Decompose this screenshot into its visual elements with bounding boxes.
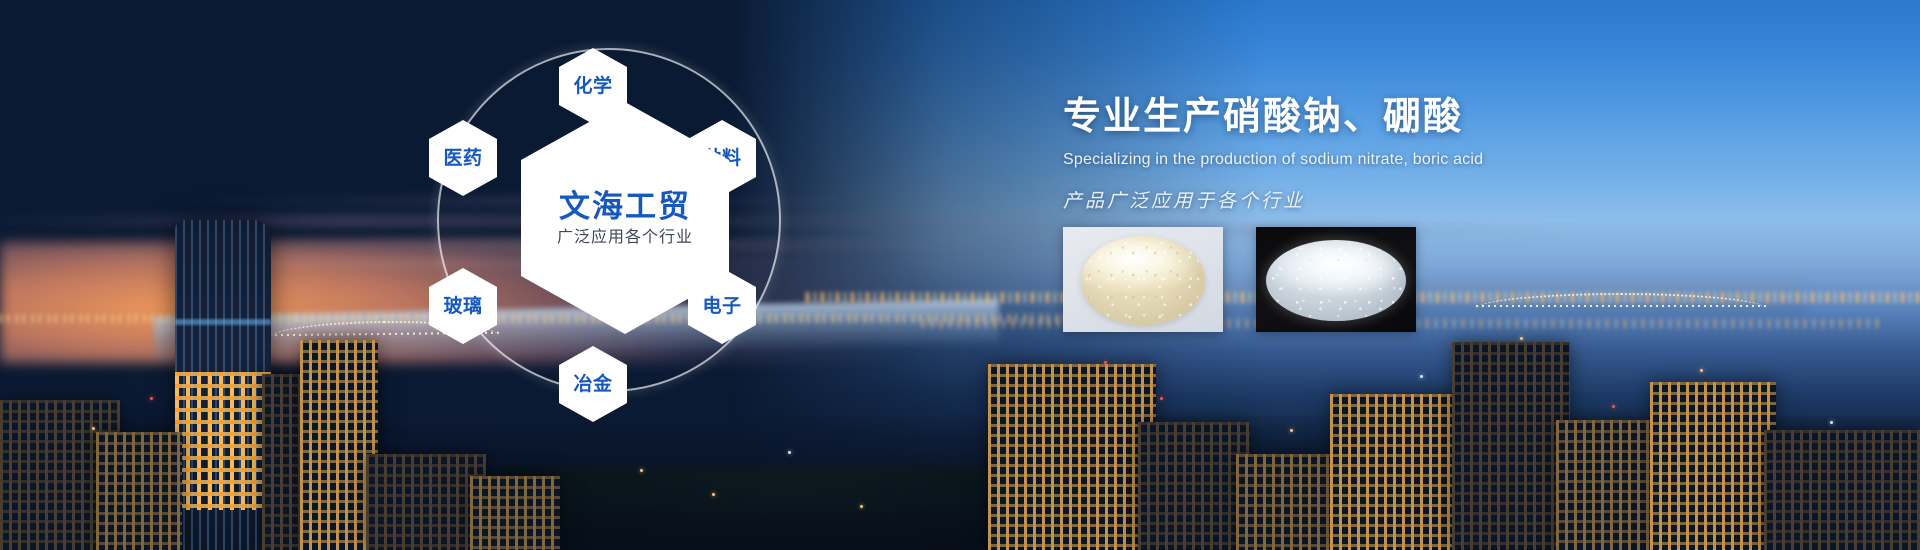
tower-light-band: [175, 319, 271, 325]
headline-english: Specializing in the production of sodium…: [1063, 150, 1783, 169]
product-photo-group: [1063, 227, 1416, 332]
city-light: [1830, 421, 1833, 424]
powder-grain-texture: [1266, 240, 1407, 322]
city-light: [92, 427, 95, 430]
powder-grain-texture: [1081, 236, 1206, 324]
city-light: [1104, 361, 1107, 364]
promo-banner: 化学 釉料 电子 冶金 玻璃 医药 文海工贸 广泛应用各个行业 专业生产硝酸钠、…: [0, 0, 1920, 550]
city-light: [1612, 405, 1615, 408]
industry-hex-diagram: 化学 釉料 电子 冶金 玻璃 医药 文海工贸 广泛应用各个行业: [415, 10, 835, 490]
city-light: [860, 505, 863, 508]
city-light: [1290, 429, 1293, 432]
city-light: [1700, 369, 1703, 372]
city-light: [1420, 375, 1423, 378]
building: [1138, 422, 1250, 550]
building: [1452, 342, 1570, 550]
building: [1764, 430, 1920, 550]
building: [1236, 454, 1332, 550]
hex-node-label: 医药: [443, 149, 482, 168]
hex-node-label: 玻璃: [443, 297, 482, 316]
city-light: [1520, 337, 1523, 340]
building: [988, 364, 1156, 550]
brand-subtitle: 广泛应用各个行业: [557, 230, 693, 246]
brand-name: 文海工贸: [559, 191, 691, 222]
headline-chinese: 专业生产硝酸钠、硼酸: [1063, 96, 1783, 140]
tagline: 产品广泛应用于各个行业: [1063, 191, 1783, 214]
building: [1650, 382, 1776, 550]
building: [1330, 394, 1470, 550]
headline-block: 专业生产硝酸钠、硼酸 Specializing in the productio…: [1063, 96, 1783, 214]
city-light: [1160, 397, 1163, 400]
hex-node-label: 化学: [573, 77, 612, 96]
building: [96, 432, 182, 550]
product-photo-boric-acid[interactable]: [1256, 227, 1416, 332]
hex-node-label: 冶金: [573, 375, 612, 394]
hex-node-label: 电子: [702, 297, 741, 316]
city-skyline: [0, 231, 1920, 550]
city-light: [150, 397, 153, 400]
city-light: [712, 493, 715, 496]
product-photo-sodium-nitrate[interactable]: [1063, 227, 1223, 332]
signature-tower: [175, 220, 271, 550]
building: [1556, 420, 1660, 550]
